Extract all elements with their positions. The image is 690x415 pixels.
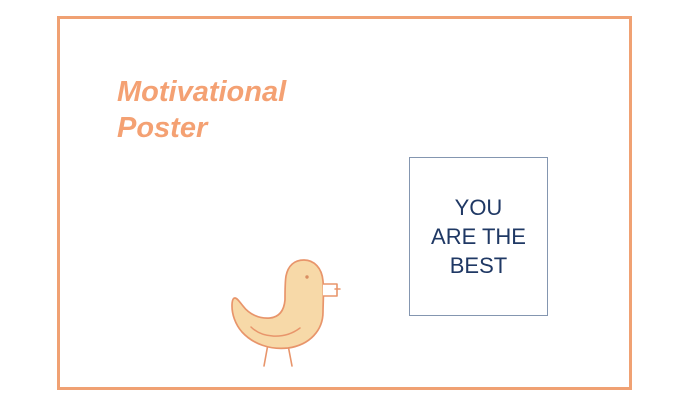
duck-eye-icon [305, 275, 308, 278]
duck-illustration [222, 248, 346, 370]
quote-text-box: YOU ARE THE BEST [409, 157, 548, 316]
page-title: Motivational Poster [117, 74, 417, 146]
quote-text: YOU ARE THE BEST [431, 193, 526, 280]
duck-beak-icon [323, 284, 337, 296]
poster-canvas: Motivational Poster YOU ARE THE BEST [0, 0, 690, 415]
duck-icon [222, 248, 346, 370]
duck-body-icon [232, 260, 323, 348]
